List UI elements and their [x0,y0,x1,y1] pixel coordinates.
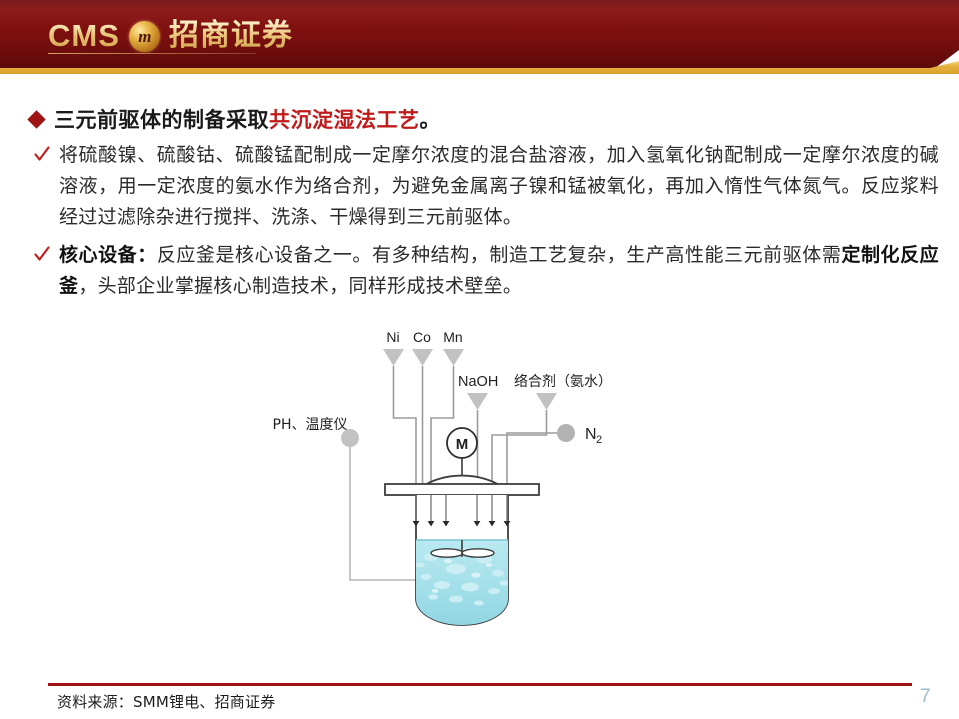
heading-tail-text: 。 [420,107,442,132]
bullet-item-2: 核心设备：反应釜是核心设备之一。有多种结构，制造工艺复杂，生产高性能三元前驱体需… [34,240,959,302]
diamond-bullet-icon [27,110,45,128]
check-mark-icon [34,246,50,264]
funnel-icon-complexing [536,393,557,410]
logo-underline [48,53,256,54]
heading-plain-text: 三元前驱体的制备采取 [54,107,269,132]
feed-label-ni: Ni [386,329,399,345]
source-note: 资料来源：SMM锂电、招商证券 [57,691,275,712]
logo-seal-icon: m [129,21,160,52]
heading-bullet-row: 三元前驱体的制备采取共沉淀湿法工艺。 [30,106,959,133]
bullet-item-1: 将硫酸镍、硫酸钴、硫酸锰配制成一定摩尔浓度的混合盐溶液，加入氢氧化钠配制成一定摩… [34,140,959,233]
motor-label: M [456,436,469,453]
reactor-diagram: Ni Co Mn NaOH 络合剂（氨水） PH、温度仪 N 2 [270,325,700,655]
nitrogen-pipe [507,433,557,488]
reagent-label-naoh: NaOH [458,374,498,390]
bullet-2-lead: 核心设备： [59,244,157,266]
feed-label-co: Co [413,329,431,345]
gas-label-n2: N [585,426,597,443]
bullet-1-text: 将硫酸镍、硫酸钴、硫酸锰配制成一定摩尔浓度的混合盐溶液，加入氢氧化钠配制成一定摩… [59,140,939,233]
feed-label-mn: Mn [443,329,462,345]
reactor-flange [385,484,539,495]
funnel-icon-mn [443,349,464,366]
footer-divider [48,683,912,686]
instrument-node-icon [341,429,359,447]
slide-header: CMS m 招商证券 [0,0,959,86]
page-number: 7 [920,686,931,708]
feed-pipes [394,366,454,488]
bullet-2-part1: 反应釜是核心设备之一。有多种结构，制造工艺复杂，生产高性能三元前驱体需 [157,244,842,266]
nitrogen-node-icon [557,424,575,442]
funnel-icon-ni [383,349,404,366]
header-underline-white [0,74,959,78]
company-logo: CMS m 招商证券 [48,16,293,56]
instrument-pipe [350,447,426,580]
heading-red-text: 共沉淀湿法工艺 [269,107,420,132]
reagent-label-complexing: 络合剂（氨水） [514,374,612,390]
instrument-label: PH、温度仪 [273,417,348,433]
logo-chinese-text: 招商证券 [169,19,293,53]
check-mark-icon [34,146,50,164]
logo-latin-text: CMS [48,19,120,53]
bullet-2-text: 核心设备：反应釜是核心设备之一。有多种结构，制造工艺复杂，生产高性能三元前驱体需… [59,240,939,302]
funnel-icon-naoh [467,393,488,410]
bullet-2-part2: ，头部企业掌握核心制造技术，同样形成技术壁垒。 [78,275,522,297]
slide-content: 三元前驱体的制备采取共沉淀湿法工艺。 将硫酸镍、硫酸钴、硫酸锰配制成一定摩尔浓度… [0,88,959,302]
gas-label-n2-sub: 2 [596,434,602,446]
reagent-pipes [478,410,547,488]
page-title: 三元前驱体的制备采取共沉淀湿法工艺。 [54,106,441,133]
funnel-icon-co [412,349,433,366]
logo-seal-glyph: m [138,28,150,45]
